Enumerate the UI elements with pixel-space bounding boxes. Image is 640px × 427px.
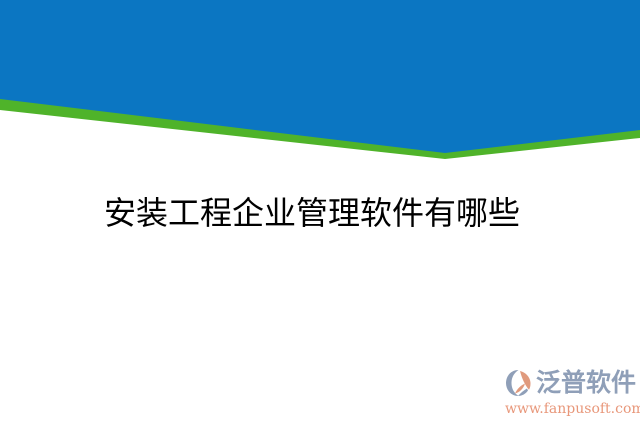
decorative-header-banner [0, 0, 640, 175]
banner-blue-shape [0, 0, 640, 153]
brand-website-url: www.fanpusoft.com [505, 401, 636, 418]
brand-wordmark: 泛普软件 [536, 368, 636, 398]
slide-canvas: 安装工程企业管理软件有哪些 泛普软件 www.fanpusoft.com [0, 0, 640, 427]
page-title: 安装工程企业管理软件有哪些 [104, 192, 564, 234]
fanpu-swirl-logo-icon [504, 368, 534, 398]
brand-logo: 泛普软件 www.fanpusoft.com [504, 366, 636, 418]
brand-logo-row: 泛普软件 [504, 366, 636, 400]
